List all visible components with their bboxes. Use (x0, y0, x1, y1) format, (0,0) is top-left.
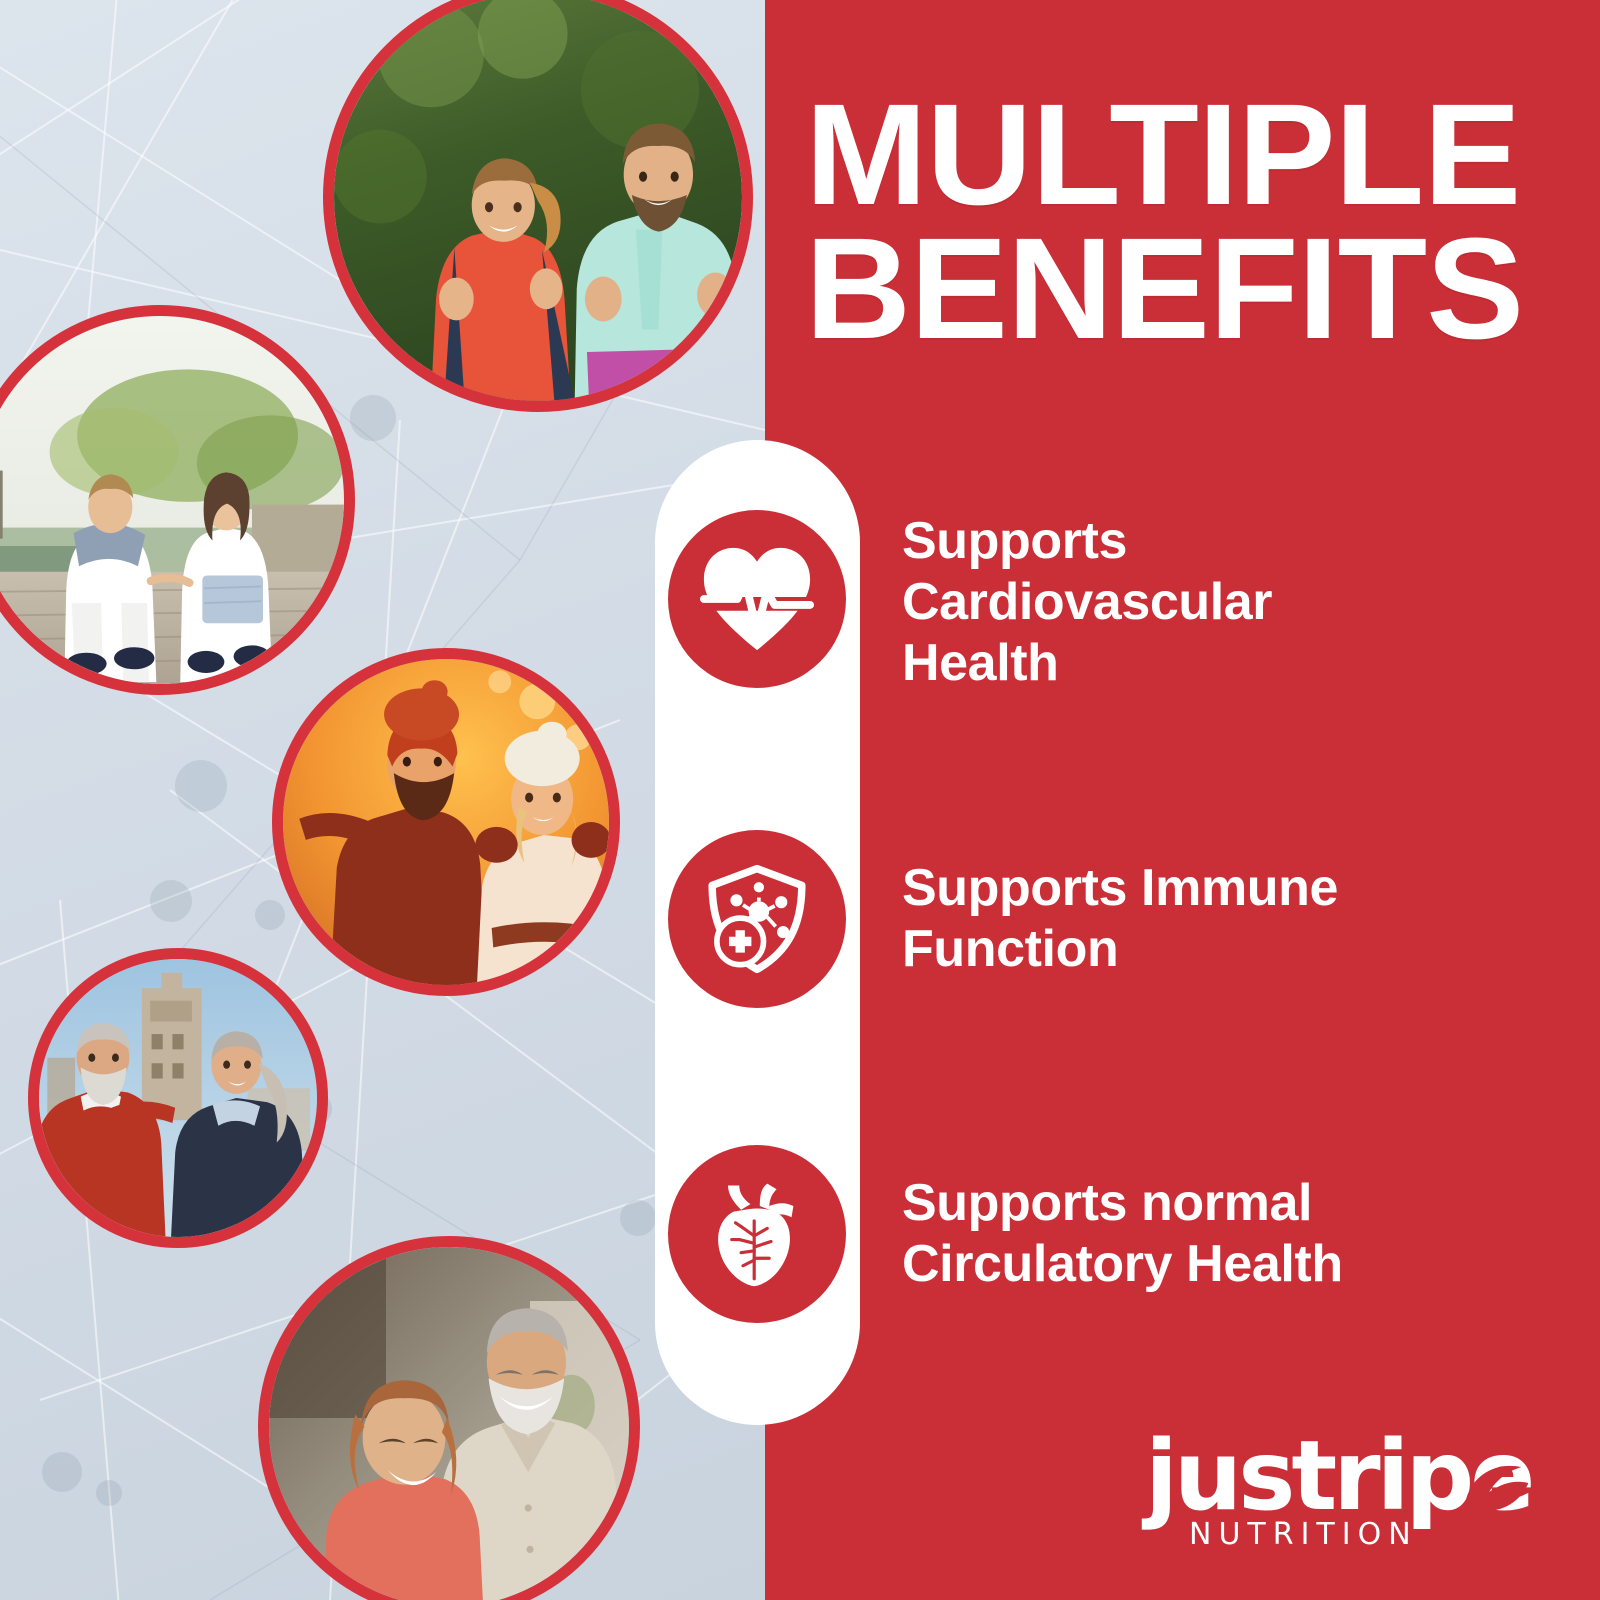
benefit-item-cardiovascular: Supports Cardiovascular Health (668, 505, 1548, 693)
photo-couple-walking-boardwalk (0, 305, 355, 695)
logo-tagline: NUTRITION (1189, 1520, 1418, 1550)
photo-young-couple-jogging (323, 0, 753, 412)
brand-logo: justripe NUTRITION (1145, 1428, 1535, 1568)
promo-poster: MULTIPLE BENEFITS Supports Cardiovascula… (0, 0, 1600, 1600)
shield-immune-icon (668, 830, 846, 1008)
decorative-dot (255, 900, 285, 930)
decorative-dot (150, 880, 192, 922)
benefit-text-line: Function (902, 919, 1338, 980)
photo-senior-couple-smiling (258, 1236, 640, 1600)
benefit-text-line: Circulatory Health (902, 1234, 1343, 1295)
benefit-text-line: Supports Immune (902, 858, 1338, 919)
decorative-dot (42, 1452, 82, 1492)
decorative-dot (350, 395, 396, 441)
benefit-label-immune: Supports Immune Function (902, 858, 1338, 980)
benefit-text-line: Health (902, 633, 1272, 694)
benefit-label-circulatory: Supports normal Circulatory Health (902, 1173, 1343, 1295)
benefit-text-line: Supports (902, 511, 1272, 572)
headline-line-1: MULTIPLE (805, 88, 1600, 222)
anatomical-heart-icon (668, 1145, 846, 1323)
leaf-swoosh-icon (1445, 1444, 1537, 1524)
benefit-text-line: Supports normal (902, 1173, 1343, 1234)
photo-couple-winter-hats (272, 648, 620, 996)
decorative-dot (620, 1200, 656, 1236)
heart-pulse-icon (668, 510, 846, 688)
decorative-dot (96, 1480, 122, 1506)
benefit-text-line: Cardiovascular (902, 572, 1272, 633)
benefit-label-cardiovascular: Supports Cardiovascular Health (902, 511, 1272, 693)
headline-line-2: BENEFITS (805, 222, 1600, 356)
benefit-item-circulatory: Supports normal Circulatory Health (668, 1145, 1548, 1323)
headline: MULTIPLE BENEFITS (805, 88, 1600, 356)
decorative-dot (175, 760, 227, 812)
photo-mature-couple-city (28, 948, 328, 1248)
benefit-item-immune: Supports Immune Function (668, 830, 1548, 1008)
